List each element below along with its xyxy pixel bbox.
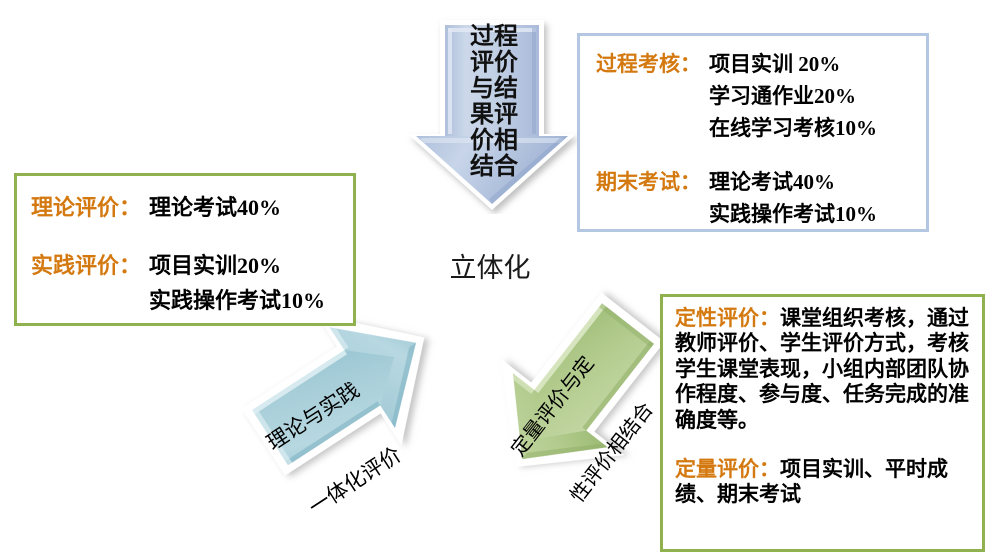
practice-row: 实践评价： 项目实训20% 实践操作考试10% <box>31 248 353 315</box>
theory-evaluation-box: 理论评价： 理论考试40% 实践评价： 项目实训20% 实践操作考试10% <box>14 173 356 326</box>
practice-value: 实践操作考试10% <box>149 283 325 315</box>
practice-value: 项目实训20% <box>149 248 325 280</box>
quant-qual-arrow <box>488 283 673 488</box>
practice-row-label: 实践评价： <box>31 248 141 280</box>
final-exam-value: 理论考试40% <box>709 166 877 196</box>
theory-row: 理论评价： 理论考试40% <box>31 190 353 222</box>
final-exam-row: 期末考试： 理论考试40% 实践操作考试10% <box>596 166 926 228</box>
process-row: 过程考核： 项目实训 20% 学习通作业20% 在线学习考核10% <box>596 48 926 142</box>
final-exam-row-values: 理论考试40% 实践操作考试10% <box>709 166 877 228</box>
qualitative-evaluation-box: 定性评价：课堂组织考核，通过教师评价、学生评价方式，考核学生课堂表现，小组内部团… <box>660 294 985 552</box>
practice-row-values: 项目实训20% 实践操作考试10% <box>149 248 325 315</box>
process-result-arrow <box>402 14 584 214</box>
theory-row-values: 理论考试40% <box>149 190 281 222</box>
qualitative-label: 定性评价： <box>675 306 780 330</box>
diagram-canvas: 过程 评价 与结 果评 价相 结合 <box>0 0 1007 558</box>
process-value: 学习通作业20% <box>709 80 877 110</box>
final-exam-row-label: 期末考试： <box>596 166 701 196</box>
theory-value: 理论考试40% <box>149 190 281 222</box>
process-row-label: 过程考核： <box>596 48 701 78</box>
process-assessment-box: 过程考核： 项目实训 20% 学习通作业20% 在线学习考核10% 期末考试： … <box>577 33 929 232</box>
qualitative-paragraph: 定性评价：课堂组织考核，通过教师评价、学生评价方式，考核学生课堂表现，小组内部团… <box>675 306 970 433</box>
process-value: 项目实训 20% <box>709 48 877 78</box>
center-label: 立体化 <box>430 246 550 285</box>
final-exam-value: 实践操作考试10% <box>709 198 877 228</box>
process-row-values: 项目实训 20% 学习通作业20% 在线学习考核10% <box>709 48 877 142</box>
theory-row-label: 理论评价： <box>31 190 141 222</box>
quantitative-label: 定量评价： <box>675 457 780 481</box>
process-value: 在线学习考核10% <box>709 112 877 142</box>
quantitative-paragraph: 定量评价：项目实训、平时成绩、期末考试 <box>675 457 970 508</box>
